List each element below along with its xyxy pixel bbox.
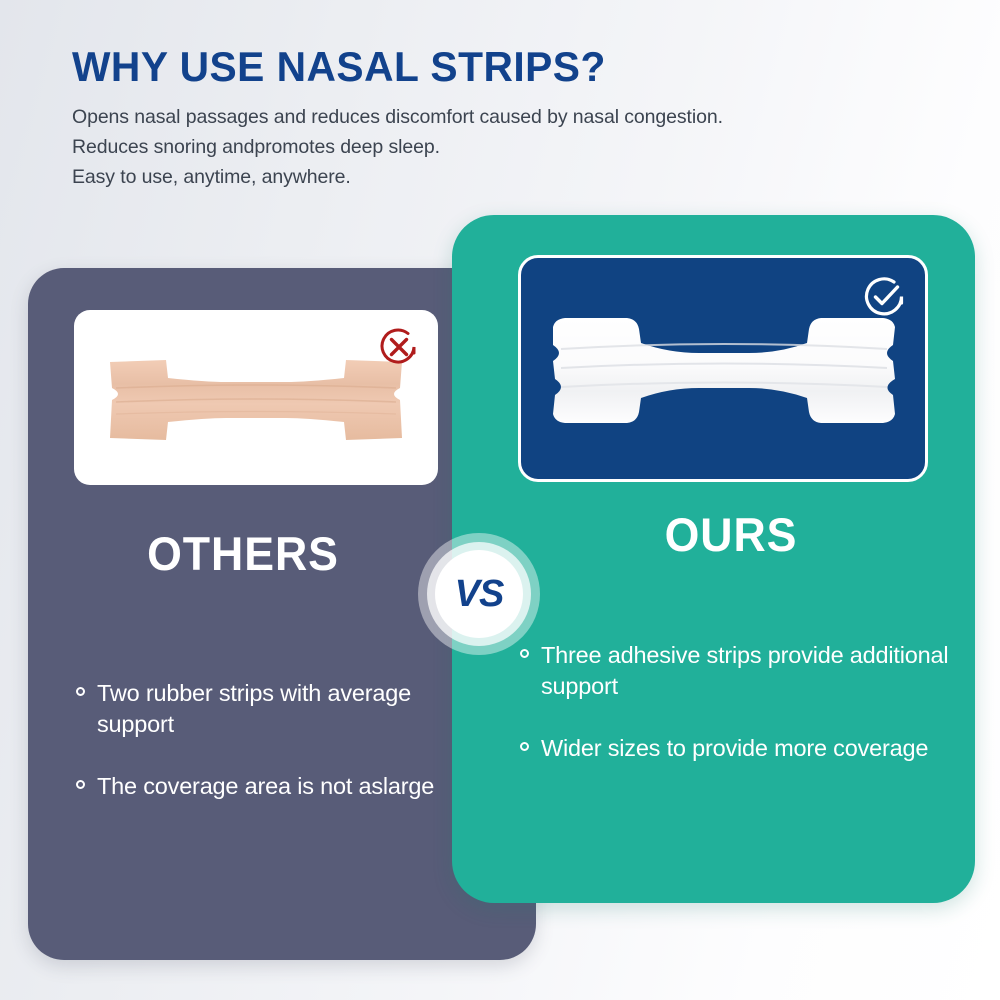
list-item: Three adhesive strips provide additional… <box>520 640 950 701</box>
ours-label: OURS <box>536 507 926 562</box>
subtitle-line: Reduces snoring andpromotes deep sleep. <box>72 133 932 163</box>
ours-product-image <box>518 255 928 482</box>
list-item-label: Wider sizes to provide more coverage <box>541 733 950 764</box>
header: WHY USE NASAL STRIPS? Opens nasal passag… <box>72 44 932 192</box>
x-circle-icon <box>378 326 420 368</box>
subtitle-line: Opens nasal passages and reduces discomf… <box>72 103 932 133</box>
subtitle-line: Easy to use, anytime, anywhere. <box>72 163 932 193</box>
others-label: OTHERS <box>39 526 448 581</box>
bullet-marker-icon <box>76 780 85 789</box>
check-circle-icon <box>861 274 907 320</box>
page-title: WHY USE NASAL STRIPS? <box>72 44 906 89</box>
bullet-marker-icon <box>520 742 529 751</box>
list-item: Two rubber strips with average support <box>76 678 471 739</box>
list-item-label: Two rubber strips with average support <box>97 678 471 739</box>
list-item-label: Three adhesive strips provide additional… <box>541 640 950 701</box>
others-bullet-list: Two rubber strips with average support T… <box>76 678 471 834</box>
others-product-image <box>74 310 438 485</box>
bullet-marker-icon <box>76 687 85 696</box>
list-item: Wider sizes to provide more coverage <box>520 733 950 764</box>
vs-badge: VS <box>418 533 540 655</box>
vs-label: VS <box>455 573 504 616</box>
beige-nasal-strip-graphic <box>106 352 406 447</box>
list-item: The coverage area is not aslarge <box>76 771 471 802</box>
subtitle-block: Opens nasal passages and reduces discomf… <box>72 103 932 192</box>
list-item-label: The coverage area is not aslarge <box>97 771 471 802</box>
white-nasal-strip-graphic <box>549 313 899 428</box>
vs-circle: VS <box>435 550 523 638</box>
ours-bullet-list: Three adhesive strips provide additional… <box>520 640 950 796</box>
